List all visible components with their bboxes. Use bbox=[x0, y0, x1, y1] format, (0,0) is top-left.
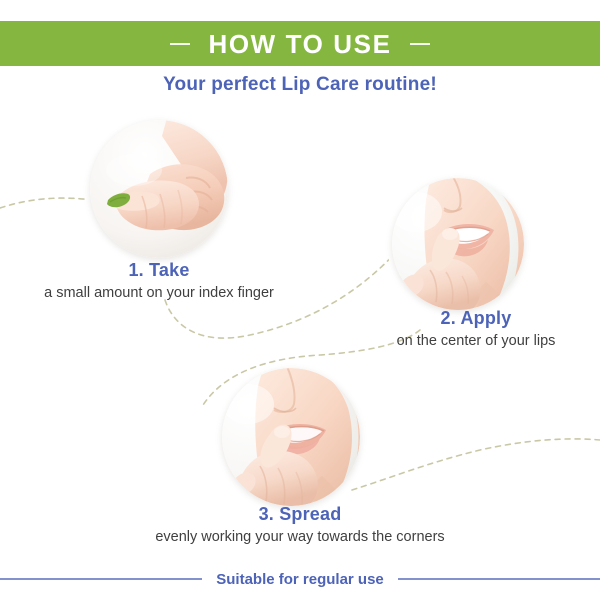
step-image-take-inner bbox=[90, 120, 228, 258]
step-description-spread: evenly working your way towards the corn… bbox=[120, 528, 480, 547]
step-image-apply bbox=[392, 178, 524, 310]
banner-dash-right-icon bbox=[410, 43, 430, 45]
banner-dash-left-icon bbox=[170, 43, 190, 45]
step-image-spread-inner bbox=[222, 368, 360, 506]
subtitle: Your perfect Lip Care routine! bbox=[0, 74, 600, 96]
step-caption-take: 1. Take a small amount on your index fin… bbox=[44, 259, 274, 303]
step-title-take: 1. Take bbox=[44, 259, 274, 282]
header-banner: HOW TO USE bbox=[0, 21, 600, 66]
step-caption-spread: 3. Spread evenly working your way toward… bbox=[120, 503, 480, 547]
page-title: HOW TO USE bbox=[208, 31, 391, 57]
connector-segment-exit bbox=[352, 439, 600, 490]
how-to-use-infographic: HOW TO USE Your perfect Lip Care routine… bbox=[0, 0, 600, 600]
step-description-take: a small amount on your index finger bbox=[44, 284, 274, 303]
step-title-spread: 3. Spread bbox=[120, 503, 480, 526]
connector-segment-entry bbox=[0, 198, 92, 208]
footer-rule-left bbox=[0, 578, 202, 580]
step-image-apply-inner bbox=[392, 178, 524, 310]
step-image-spread bbox=[222, 368, 360, 506]
step-caption-apply: 2. Apply on the center of your lips bbox=[352, 307, 600, 351]
footer-rule-right bbox=[398, 578, 600, 580]
step-description-apply: on the center of your lips bbox=[352, 332, 600, 351]
step-title-apply: 2. Apply bbox=[352, 307, 600, 330]
footer: Suitable for regular use bbox=[0, 566, 600, 592]
footer-text: Suitable for regular use bbox=[202, 571, 398, 588]
step-image-take bbox=[90, 120, 228, 258]
